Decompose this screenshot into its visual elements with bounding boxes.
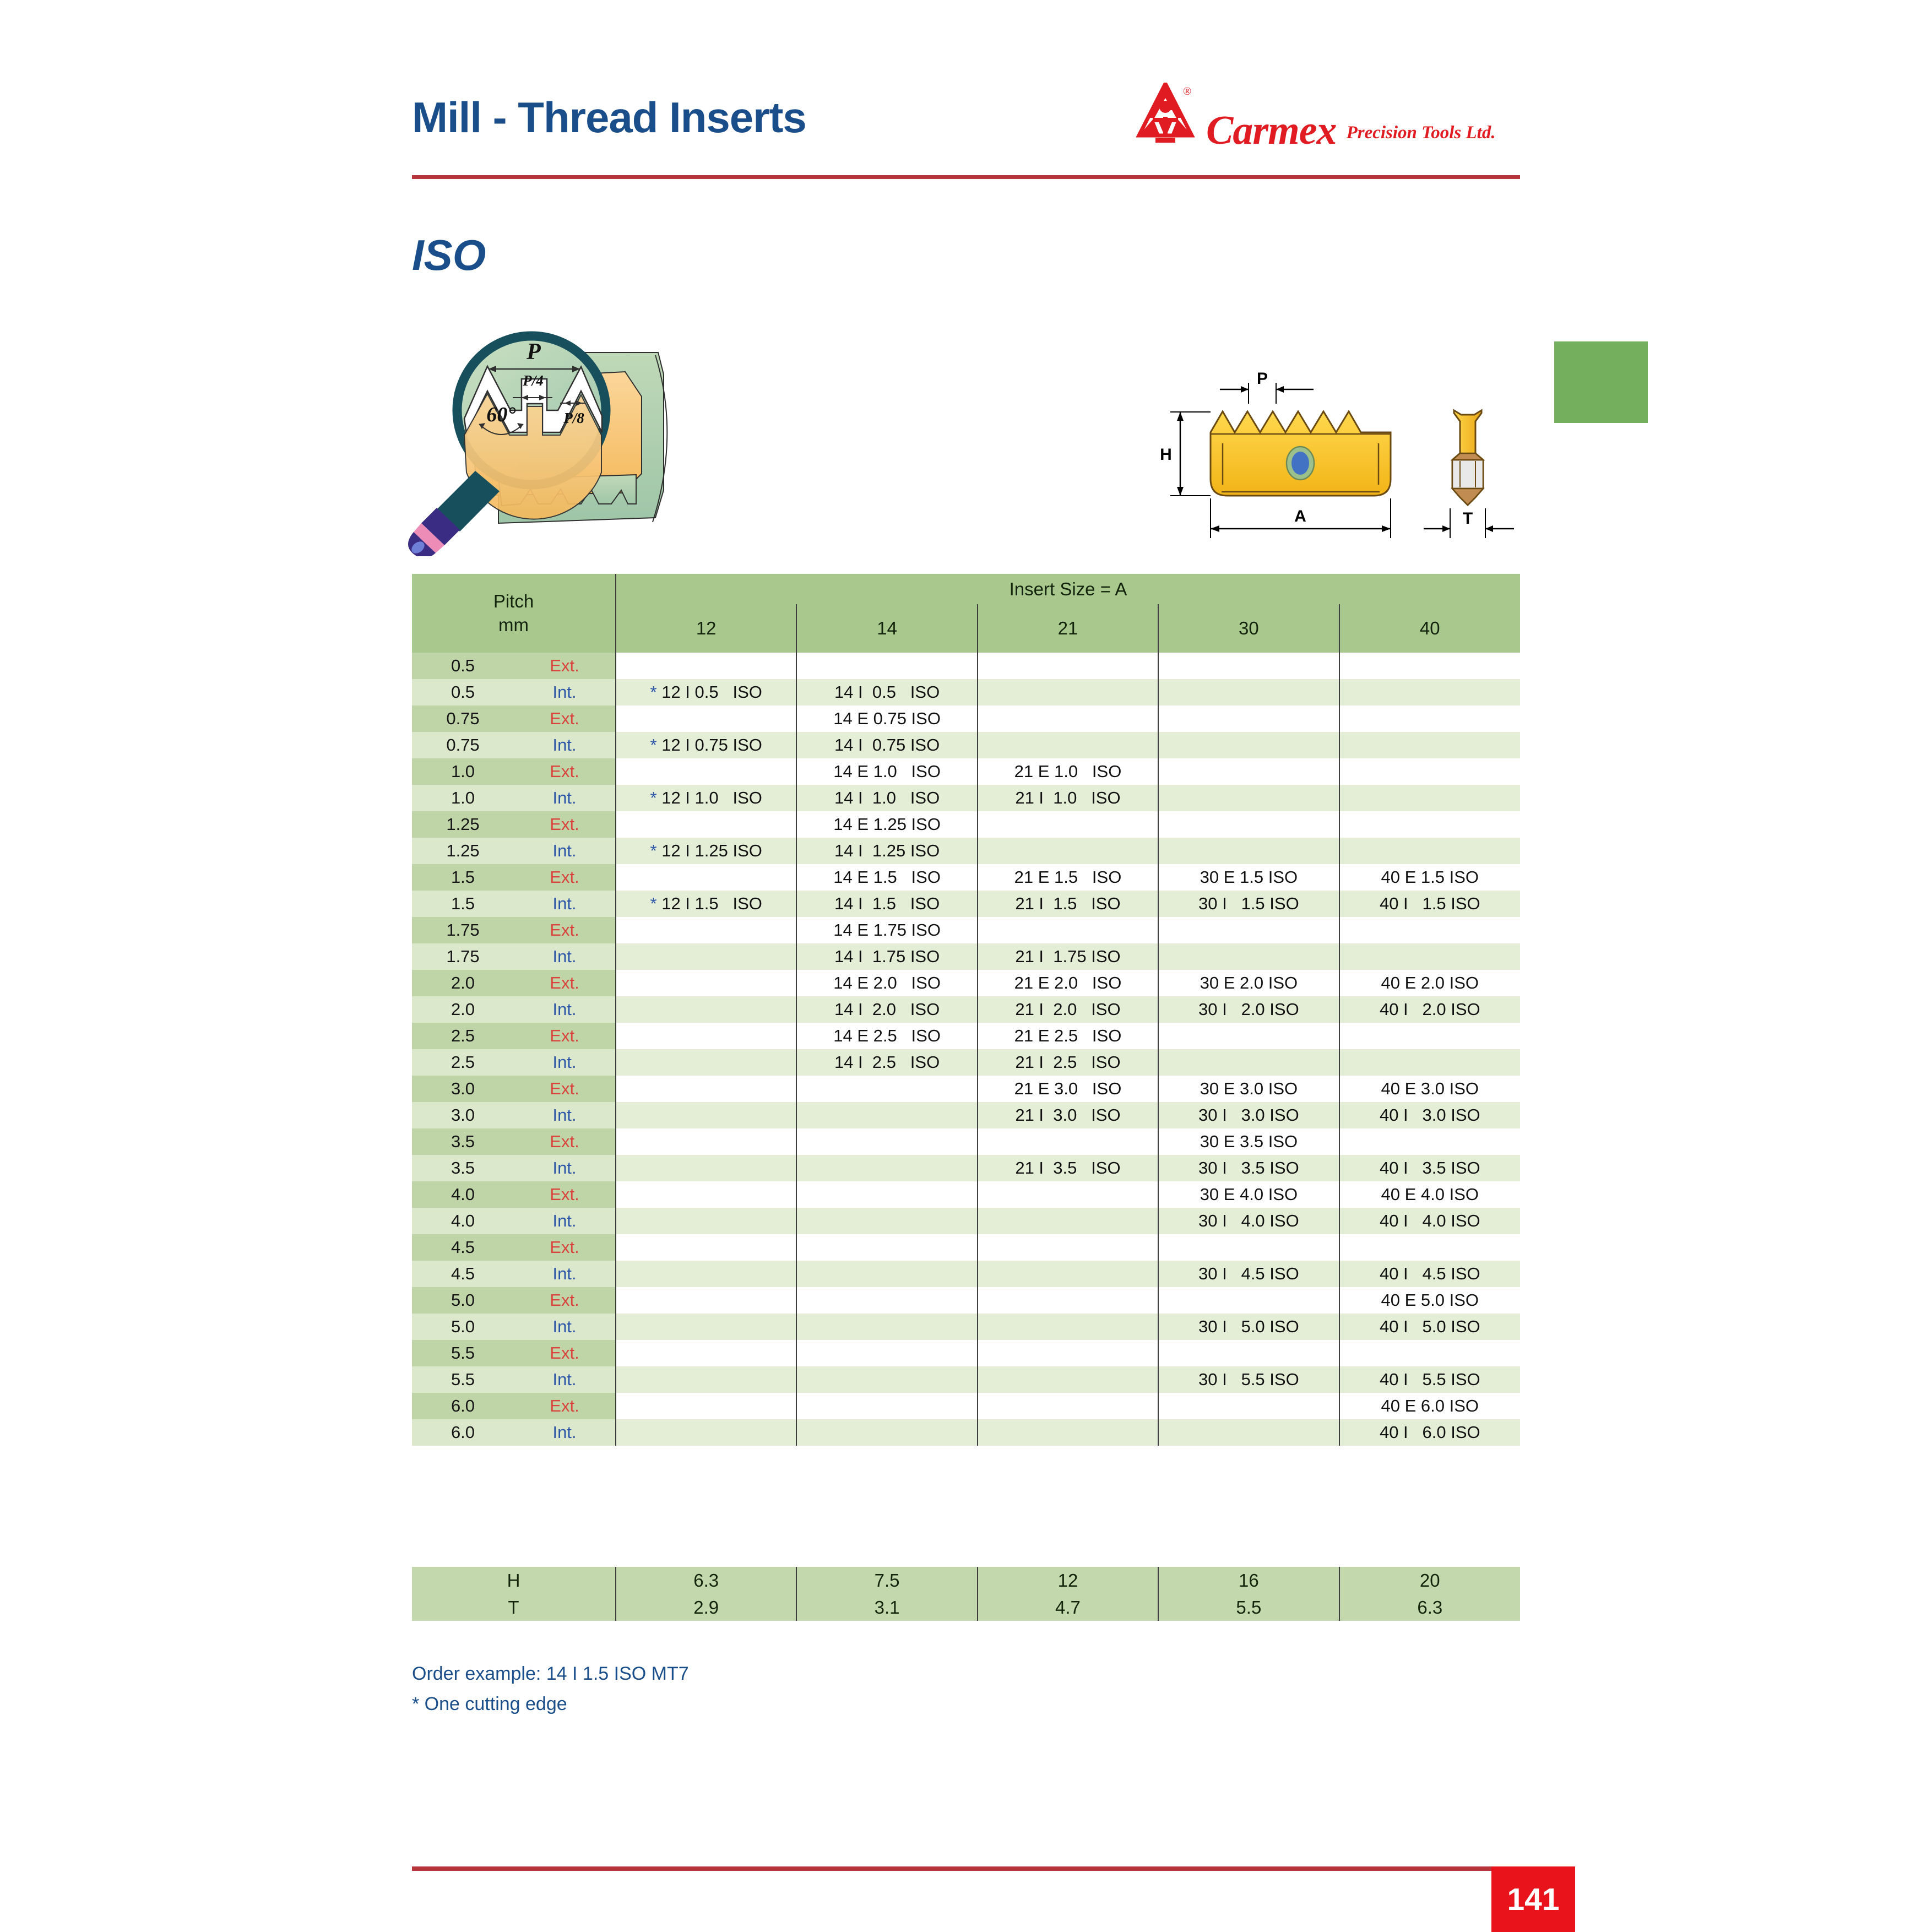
pitch-value: 4.0 bbox=[412, 1181, 514, 1208]
diagram-label-H: H bbox=[1160, 446, 1172, 464]
insert-designation-cell bbox=[796, 1366, 977, 1393]
insert-designation-cell bbox=[1158, 705, 1339, 732]
diagram-label-P: P bbox=[1257, 370, 1268, 388]
notes-block: Order example: 14 I 1.5 ISO MT7 * One cu… bbox=[412, 1659, 689, 1719]
insert-designation-cell bbox=[796, 1314, 977, 1340]
thread-type-label: Int. bbox=[514, 943, 616, 970]
thread-type-label: Int. bbox=[514, 1155, 616, 1181]
insert-designation-cell bbox=[616, 811, 796, 838]
insert-designation-cell bbox=[978, 1393, 1158, 1419]
cutting-edge-note: * One cutting edge bbox=[412, 1689, 689, 1719]
table-row: 1.25Ext.14 E 1.25 ISO bbox=[412, 811, 1520, 838]
pitch-value: 0.75 bbox=[412, 705, 514, 732]
insert-designation-cell bbox=[1339, 943, 1520, 970]
pitch-value: 2.5 bbox=[412, 1049, 514, 1076]
thread-type-label: Ext. bbox=[514, 1234, 616, 1261]
thread-type-label: Int. bbox=[514, 1261, 616, 1287]
insert-designation-cell bbox=[616, 1155, 796, 1181]
insert-designation-cell bbox=[978, 1419, 1158, 1446]
pitch-eighth-symbol: P/8 bbox=[563, 410, 584, 426]
dimension-value: 12 bbox=[978, 1567, 1158, 1594]
table-row: 0.75Int.* 12 I 0.75 ISO14 I 0.75 ISO bbox=[412, 732, 1520, 758]
dimension-value: 3.1 bbox=[796, 1594, 977, 1621]
insert-designation-cell bbox=[1339, 732, 1520, 758]
insert-designation-cell bbox=[1339, 785, 1520, 811]
insert-designation-cell: 14 I 1.75 ISO bbox=[796, 943, 977, 970]
one-cutting-edge-marker: * bbox=[650, 682, 657, 702]
insert-designation-cell bbox=[616, 1128, 796, 1155]
insert-designation-cell bbox=[1339, 758, 1520, 785]
size-column-header-21: 21 bbox=[978, 604, 1158, 653]
insert-designation-cell: 40 I 2.0 ISO bbox=[1339, 996, 1520, 1023]
insert-designation-cell bbox=[1158, 785, 1339, 811]
insert-designation-cell bbox=[978, 1366, 1158, 1393]
insert-designation-cell bbox=[978, 1128, 1158, 1155]
section-color-tab bbox=[1554, 341, 1648, 423]
insert-designation-cell bbox=[1158, 1023, 1339, 1049]
insert-designation-cell: 21 I 1.75 ISO bbox=[978, 943, 1158, 970]
insert-designation-cell: 14 E 1.0 ISO bbox=[796, 758, 977, 785]
pitch-value: 6.0 bbox=[412, 1393, 514, 1419]
table-row: 4.5Ext. bbox=[412, 1234, 1520, 1261]
insert-designation-cell bbox=[1339, 1234, 1520, 1261]
insert-designation-cell bbox=[1339, 1023, 1520, 1049]
insert-designation-cell: 40 E 3.0 ISO bbox=[1339, 1076, 1520, 1102]
insert-designation-cell bbox=[1339, 1049, 1520, 1076]
thread-angle-label: 60° bbox=[486, 403, 515, 426]
thread-type-label: Int. bbox=[514, 785, 616, 811]
thread-type-label: Ext. bbox=[514, 1128, 616, 1155]
insert-designation-cell: 30 I 5.5 ISO bbox=[1158, 1366, 1339, 1393]
size-column-header-14: 14 bbox=[796, 604, 977, 653]
table-row: 1.75Int.14 I 1.75 ISO21 I 1.75 ISO bbox=[412, 943, 1520, 970]
section-title: ISO bbox=[412, 230, 486, 280]
pitch-value: 1.75 bbox=[412, 917, 514, 943]
table-body: 0.5Ext.0.5Int.* 12 I 0.5 ISO14 I 0.5 ISO… bbox=[412, 653, 1520, 1446]
insert-designation-cell bbox=[796, 1102, 977, 1128]
insert-designation-cell: 30 E 3.5 ISO bbox=[1158, 1128, 1339, 1155]
pitch-quarter-symbol: P/4 bbox=[522, 372, 544, 389]
table-row: 1.5Ext.14 E 1.5 ISO21 E 1.5 ISO30 E 1.5 … bbox=[412, 864, 1520, 891]
table-row: 3.5Int.21 I 3.5 ISO30 I 3.5 ISO40 I 3.5 … bbox=[412, 1155, 1520, 1181]
table-row: 2.0Int.14 I 2.0 ISO21 I 2.0 ISO30 I 2.0 … bbox=[412, 996, 1520, 1023]
pitch-value: 2.0 bbox=[412, 996, 514, 1023]
insert-designation-cell bbox=[616, 943, 796, 970]
dimension-value: 7.5 bbox=[796, 1567, 977, 1594]
dimension-row: T2.93.14.75.56.3 bbox=[412, 1594, 1520, 1621]
thread-type-label: Int. bbox=[514, 838, 616, 864]
insert-designation-cell: 14 E 1.25 ISO bbox=[796, 811, 977, 838]
page-number: 141 bbox=[1491, 1866, 1575, 1932]
diagram-label-A: A bbox=[1294, 507, 1306, 525]
insert-designation-cell bbox=[978, 838, 1158, 864]
insert-designation-cell bbox=[616, 996, 796, 1023]
table-row: 5.5Ext. bbox=[412, 1340, 1520, 1366]
pitch-value: 0.75 bbox=[412, 732, 514, 758]
pitch-value: 5.5 bbox=[412, 1340, 514, 1366]
brand-logo: ® Carmex Precision Tools Ltd. bbox=[1135, 83, 1496, 150]
table-row: 1.75Ext.14 E 1.75 ISO bbox=[412, 917, 1520, 943]
insert-designation-cell bbox=[978, 679, 1158, 705]
pitch-value: 5.0 bbox=[412, 1314, 514, 1340]
insert-designation-cell bbox=[616, 705, 796, 732]
thread-type-label: Ext. bbox=[514, 1287, 616, 1314]
table-row: 2.5Int.14 I 2.5 ISO21 I 2.5 ISO bbox=[412, 1049, 1520, 1076]
thread-type-label: Ext. bbox=[514, 970, 616, 996]
insert-designation-cell bbox=[616, 1314, 796, 1340]
insert-designation-cell: 21 E 1.5 ISO bbox=[978, 864, 1158, 891]
insert-designation-cell: 40 I 4.0 ISO bbox=[1339, 1208, 1520, 1234]
brand-subtitle: Precision Tools Ltd. bbox=[1347, 123, 1496, 150]
insert-designation-cell: 40 E 1.5 ISO bbox=[1339, 864, 1520, 891]
insert-designation-cell bbox=[1339, 705, 1520, 732]
insert-designation-cell bbox=[796, 1393, 977, 1419]
pitch-value: 1.25 bbox=[412, 811, 514, 838]
table-row: 1.25Int.* 12 I 1.25 ISO14 I 1.25 ISO bbox=[412, 838, 1520, 864]
thread-type-label: Ext. bbox=[514, 1023, 616, 1049]
table-row: 5.0Int.30 I 5.0 ISO40 I 5.0 ISO bbox=[412, 1314, 1520, 1340]
insert-designation-cell bbox=[616, 1234, 796, 1261]
insert-designation-cell: * 12 I 0.5 ISO bbox=[616, 679, 796, 705]
insert-designation-cell: 40 I 6.0 ISO bbox=[1339, 1419, 1520, 1446]
insert-designation-cell bbox=[1158, 943, 1339, 970]
pitch-value: 1.75 bbox=[412, 943, 514, 970]
insert-designation-cell bbox=[796, 1181, 977, 1208]
insert-designation-cell bbox=[616, 653, 796, 679]
insert-dimension-diagram: P H A T bbox=[1148, 361, 1550, 559]
insert-designation-cell: 40 E 2.0 ISO bbox=[1339, 970, 1520, 996]
page-title: Mill - Thread Inserts bbox=[412, 93, 806, 143]
pitch-value: 2.5 bbox=[412, 1023, 514, 1049]
pitch-value: 6.0 bbox=[412, 1419, 514, 1446]
insert-designation-cell bbox=[1339, 679, 1520, 705]
insert-designation-cell bbox=[796, 1419, 977, 1446]
insert-designation-cell: 30 E 2.0 ISO bbox=[1158, 970, 1339, 996]
table-header: Pitch mm Insert Size = A 1214213040 bbox=[412, 574, 1520, 653]
insert-designation-cell bbox=[1158, 679, 1339, 705]
one-cutting-edge-marker: * bbox=[650, 788, 657, 807]
insert-size-header: Insert Size = A bbox=[616, 574, 1520, 604]
thread-type-label: Int. bbox=[514, 1366, 616, 1393]
thread-type-label: Ext. bbox=[514, 705, 616, 732]
pitch-value: 3.5 bbox=[412, 1128, 514, 1155]
pitch-header-line2: mm bbox=[412, 614, 615, 637]
insert-designation-cell: 21 E 2.0 ISO bbox=[978, 970, 1158, 996]
table-row: 0.5Int.* 12 I 0.5 ISO14 I 0.5 ISO bbox=[412, 679, 1520, 705]
insert-designation-cell bbox=[1339, 653, 1520, 679]
thread-type-label: Ext. bbox=[514, 653, 616, 679]
insert-designation-cell bbox=[616, 1208, 796, 1234]
insert-specification-table: Pitch mm Insert Size = A 1214213040 0.5E… bbox=[412, 574, 1520, 1446]
one-cutting-edge-marker: * bbox=[650, 735, 657, 755]
thread-type-label: Ext. bbox=[514, 1181, 616, 1208]
insert-designation-cell bbox=[1158, 1340, 1339, 1366]
pitch-value: 1.5 bbox=[412, 891, 514, 917]
pitch-value: 4.5 bbox=[412, 1261, 514, 1287]
insert-designation-cell bbox=[616, 1181, 796, 1208]
insert-designation-cell bbox=[1158, 1234, 1339, 1261]
insert-designation-cell bbox=[978, 1287, 1158, 1314]
insert-designation-cell bbox=[978, 1340, 1158, 1366]
insert-designation-cell: 30 E 4.0 ISO bbox=[1158, 1181, 1339, 1208]
insert-designation-cell: 14 E 2.0 ISO bbox=[796, 970, 977, 996]
table-row: 3.0Int.21 I 3.0 ISO30 I 3.0 ISO40 I 3.0 … bbox=[412, 1102, 1520, 1128]
pitch-value: 4.0 bbox=[412, 1208, 514, 1234]
thread-type-label: Int. bbox=[514, 1419, 616, 1446]
table-row: 1.5Int.* 12 I 1.5 ISO14 I 1.5 ISO21 I 1.… bbox=[412, 891, 1520, 917]
insert-designation-cell bbox=[616, 1419, 796, 1446]
table-row: 5.5Int.30 I 5.5 ISO40 I 5.5 ISO bbox=[412, 1366, 1520, 1393]
pitch-header-line1: Pitch bbox=[412, 590, 615, 613]
thread-type-label: Int. bbox=[514, 1208, 616, 1234]
dimension-value: 6.3 bbox=[1339, 1594, 1520, 1621]
order-example-note: Order example: 14 I 1.5 ISO MT7 bbox=[412, 1659, 689, 1689]
insert-designation-cell: 21 E 3.0 ISO bbox=[978, 1076, 1158, 1102]
insert-designation-cell bbox=[616, 917, 796, 943]
pitch-value: 1.25 bbox=[412, 838, 514, 864]
pitch-value: 0.5 bbox=[412, 653, 514, 679]
insert-designation-cell: 30 I 4.0 ISO bbox=[1158, 1208, 1339, 1234]
dimension-value: 4.7 bbox=[978, 1594, 1158, 1621]
insert-designation-cell: * 12 I 1.25 ISO bbox=[616, 838, 796, 864]
insert-designation-cell bbox=[796, 1076, 977, 1102]
svg-text:®: ® bbox=[1183, 85, 1191, 97]
insert-designation-cell bbox=[1158, 653, 1339, 679]
insert-designation-cell bbox=[796, 1261, 977, 1287]
insert-designation-cell: 21 I 2.5 ISO bbox=[978, 1049, 1158, 1076]
insert-designation-cell bbox=[616, 758, 796, 785]
thread-type-label: Int. bbox=[514, 679, 616, 705]
dimension-value: 20 bbox=[1339, 1567, 1520, 1594]
insert-designation-cell bbox=[1158, 758, 1339, 785]
pitch-value: 5.5 bbox=[412, 1366, 514, 1393]
insert-designation-cell: 21 I 3.5 ISO bbox=[978, 1155, 1158, 1181]
header-divider-rule bbox=[412, 175, 1520, 179]
thread-type-label: Ext. bbox=[514, 917, 616, 943]
insert-designation-cell: 40 I 5.0 ISO bbox=[1339, 1314, 1520, 1340]
insert-designation-cell bbox=[1158, 1419, 1339, 1446]
insert-designation-cell bbox=[1339, 838, 1520, 864]
insert-designation-cell bbox=[1339, 811, 1520, 838]
insert-designation-cell bbox=[1158, 1287, 1339, 1314]
insert-designation-cell bbox=[796, 1208, 977, 1234]
dimension-label: T bbox=[412, 1594, 616, 1621]
pitch-value: 3.0 bbox=[412, 1076, 514, 1102]
insert-designation-cell bbox=[616, 970, 796, 996]
thread-type-label: Int. bbox=[514, 1314, 616, 1340]
thread-type-label: Ext. bbox=[514, 1340, 616, 1366]
insert-designation-cell: 30 E 1.5 ISO bbox=[1158, 864, 1339, 891]
insert-designation-cell: 40 I 3.0 ISO bbox=[1339, 1102, 1520, 1128]
insert-designation-cell: 40 I 3.5 ISO bbox=[1339, 1155, 1520, 1181]
pitch-value: 3.5 bbox=[412, 1155, 514, 1181]
pitch-value: 3.0 bbox=[412, 1102, 514, 1128]
insert-designation-cell: 14 I 0.5 ISO bbox=[796, 679, 977, 705]
insert-designation-cell bbox=[978, 732, 1158, 758]
insert-designation-cell bbox=[978, 917, 1158, 943]
insert-designation-cell: 21 I 1.5 ISO bbox=[978, 891, 1158, 917]
insert-designation-cell bbox=[978, 811, 1158, 838]
pitch-value: 2.0 bbox=[412, 970, 514, 996]
insert-designation-cell bbox=[796, 1128, 977, 1155]
thread-type-label: Ext. bbox=[514, 1076, 616, 1102]
insert-designation-cell bbox=[796, 653, 977, 679]
dimension-values-table: H6.37.5121620T2.93.14.75.56.3 bbox=[412, 1567, 1520, 1621]
pitch-value: 1.0 bbox=[412, 758, 514, 785]
table-row: 2.5Ext.14 E 2.5 ISO21 E 2.5 ISO bbox=[412, 1023, 1520, 1049]
thread-type-label: Int. bbox=[514, 996, 616, 1023]
footer-divider-rule bbox=[412, 1866, 1491, 1871]
insert-designation-cell bbox=[978, 1234, 1158, 1261]
table-row: 0.75Ext.14 E 0.75 ISO bbox=[412, 705, 1520, 732]
insert-designation-cell bbox=[796, 1340, 977, 1366]
table-row: 3.5Ext.30 E 3.5 ISO bbox=[412, 1128, 1520, 1155]
size-column-header-40: 40 bbox=[1339, 604, 1520, 653]
thread-profile-illustration: P P/4 P/8 60° bbox=[405, 314, 702, 556]
table-row: 1.0Int.* 12 I 1.0 ISO14 I 1.0 ISO21 I 1.… bbox=[412, 785, 1520, 811]
table-row: 5.0Ext.40 E 5.0 ISO bbox=[412, 1287, 1520, 1314]
insert-designation-cell: 14 E 1.75 ISO bbox=[796, 917, 977, 943]
insert-designation-cell: 40 E 5.0 ISO bbox=[1339, 1287, 1520, 1314]
table-row: 1.0Ext.14 E 1.0 ISO21 E 1.0 ISO bbox=[412, 758, 1520, 785]
insert-designation-cell bbox=[978, 1208, 1158, 1234]
insert-designation-cell bbox=[616, 1287, 796, 1314]
insert-designation-cell: * 12 I 1.5 ISO bbox=[616, 891, 796, 917]
insert-designation-cell: 40 E 6.0 ISO bbox=[1339, 1393, 1520, 1419]
insert-designation-cell: 30 E 3.0 ISO bbox=[1158, 1076, 1339, 1102]
table-row: 6.0Int.40 I 6.0 ISO bbox=[412, 1419, 1520, 1446]
table-row: 4.5Int.30 I 4.5 ISO40 I 4.5 ISO bbox=[412, 1261, 1520, 1287]
insert-designation-cell: 14 I 1.0 ISO bbox=[796, 785, 977, 811]
insert-designation-cell bbox=[616, 1102, 796, 1128]
insert-designation-cell bbox=[616, 864, 796, 891]
thread-type-label: Int. bbox=[514, 732, 616, 758]
insert-designation-cell: 14 E 0.75 ISO bbox=[796, 705, 977, 732]
insert-designation-cell bbox=[616, 1261, 796, 1287]
insert-designation-cell bbox=[1158, 1049, 1339, 1076]
insert-designation-cell bbox=[978, 705, 1158, 732]
insert-designation-cell: 40 I 4.5 ISO bbox=[1339, 1261, 1520, 1287]
insert-designation-cell: 14 I 2.5 ISO bbox=[796, 1049, 977, 1076]
thread-type-label: Ext. bbox=[514, 811, 616, 838]
brand-name: Carmex bbox=[1206, 111, 1337, 150]
insert-designation-cell bbox=[616, 1049, 796, 1076]
insert-designation-cell: 30 I 1.5 ISO bbox=[1158, 891, 1339, 917]
insert-designation-cell bbox=[978, 653, 1158, 679]
table-row: 4.0Ext.30 E 4.0 ISO40 E 4.0 ISO bbox=[412, 1181, 1520, 1208]
insert-designation-cell bbox=[978, 1181, 1158, 1208]
insert-designation-cell: * 12 I 0.75 ISO bbox=[616, 732, 796, 758]
insert-designation-cell bbox=[616, 1023, 796, 1049]
insert-designation-cell bbox=[616, 1393, 796, 1419]
insert-designation-cell bbox=[1339, 1128, 1520, 1155]
size-column-header-30: 30 bbox=[1158, 604, 1339, 653]
thread-type-label: Int. bbox=[514, 1102, 616, 1128]
insert-designation-cell bbox=[1158, 732, 1339, 758]
diagram-label-T: T bbox=[1463, 509, 1473, 528]
table-row: 6.0Ext.40 E 6.0 ISO bbox=[412, 1393, 1520, 1419]
pitch-column-header: Pitch mm bbox=[412, 574, 616, 653]
dimension-value: 6.3 bbox=[616, 1567, 796, 1594]
pitch-symbol-P: P bbox=[526, 339, 541, 365]
one-cutting-edge-marker: * bbox=[650, 841, 657, 860]
pitch-value: 0.5 bbox=[412, 679, 514, 705]
insert-designation-cell bbox=[616, 1340, 796, 1366]
pitch-value: 1.0 bbox=[412, 785, 514, 811]
insert-designation-cell: 14 E 1.5 ISO bbox=[796, 864, 977, 891]
insert-designation-cell bbox=[1158, 838, 1339, 864]
pitch-value: 1.5 bbox=[412, 864, 514, 891]
insert-designation-cell bbox=[1158, 917, 1339, 943]
carmex-triangle-emblem: ® bbox=[1135, 83, 1196, 150]
insert-designation-cell bbox=[616, 1366, 796, 1393]
one-cutting-edge-marker: * bbox=[650, 894, 657, 913]
insert-designation-cell bbox=[978, 1261, 1158, 1287]
dimension-value: 2.9 bbox=[616, 1594, 796, 1621]
insert-designation-cell: 30 I 3.0 ISO bbox=[1158, 1102, 1339, 1128]
insert-designation-cell bbox=[978, 1314, 1158, 1340]
dimension-label: H bbox=[412, 1567, 616, 1594]
insert-designation-cell: 30 I 3.5 ISO bbox=[1158, 1155, 1339, 1181]
thread-type-label: Ext. bbox=[514, 864, 616, 891]
table-row: 3.0Ext.21 E 3.0 ISO30 E 3.0 ISO40 E 3.0 … bbox=[412, 1076, 1520, 1102]
insert-designation-cell bbox=[1339, 1340, 1520, 1366]
insert-designation-cell bbox=[796, 1287, 977, 1314]
insert-designation-cell: 21 E 2.5 ISO bbox=[978, 1023, 1158, 1049]
thread-type-label: Int. bbox=[514, 1049, 616, 1076]
insert-designation-cell bbox=[796, 1155, 977, 1181]
insert-designation-cell: 21 I 2.0 ISO bbox=[978, 996, 1158, 1023]
size-column-header-12: 12 bbox=[616, 604, 796, 653]
insert-designation-cell: * 12 I 1.0 ISO bbox=[616, 785, 796, 811]
insert-designation-cell: 30 I 5.0 ISO bbox=[1158, 1314, 1339, 1340]
pitch-value: 5.0 bbox=[412, 1287, 514, 1314]
dimension-row: H6.37.5121620 bbox=[412, 1567, 1520, 1594]
dimension-value: 5.5 bbox=[1158, 1594, 1339, 1621]
insert-designation-cell bbox=[1339, 917, 1520, 943]
insert-designation-cell: 21 I 3.0 ISO bbox=[978, 1102, 1158, 1128]
thread-type-label: Ext. bbox=[514, 1393, 616, 1419]
insert-designation-cell bbox=[1158, 1393, 1339, 1419]
insert-designation-cell: 14 I 2.0 ISO bbox=[796, 996, 977, 1023]
insert-designation-cell: 21 E 1.0 ISO bbox=[978, 758, 1158, 785]
thread-type-label: Int. bbox=[514, 891, 616, 917]
dimension-value: 16 bbox=[1158, 1567, 1339, 1594]
insert-designation-cell bbox=[796, 1234, 977, 1261]
table-row: 0.5Ext. bbox=[412, 653, 1520, 679]
insert-designation-cell bbox=[1158, 811, 1339, 838]
insert-designation-cell: 14 I 1.5 ISO bbox=[796, 891, 977, 917]
table-row: 2.0Ext.14 E 2.0 ISO21 E 2.0 ISO30 E 2.0 … bbox=[412, 970, 1520, 996]
pitch-value: 4.5 bbox=[412, 1234, 514, 1261]
insert-designation-cell: 30 I 4.5 ISO bbox=[1158, 1261, 1339, 1287]
insert-designation-cell bbox=[616, 1076, 796, 1102]
insert-designation-cell: 14 E 2.5 ISO bbox=[796, 1023, 977, 1049]
table-row: 4.0Int.30 I 4.0 ISO40 I 4.0 ISO bbox=[412, 1208, 1520, 1234]
thread-type-label: Ext. bbox=[514, 758, 616, 785]
insert-designation-cell: 30 I 2.0 ISO bbox=[1158, 996, 1339, 1023]
insert-designation-cell: 40 I 1.5 ISO bbox=[1339, 891, 1520, 917]
insert-designation-cell: 14 I 1.25 ISO bbox=[796, 838, 977, 864]
insert-designation-cell: 21 I 1.0 ISO bbox=[978, 785, 1158, 811]
insert-designation-cell: 40 I 5.5 ISO bbox=[1339, 1366, 1520, 1393]
insert-designation-cell: 14 I 0.75 ISO bbox=[796, 732, 977, 758]
insert-designation-cell: 40 E 4.0 ISO bbox=[1339, 1181, 1520, 1208]
